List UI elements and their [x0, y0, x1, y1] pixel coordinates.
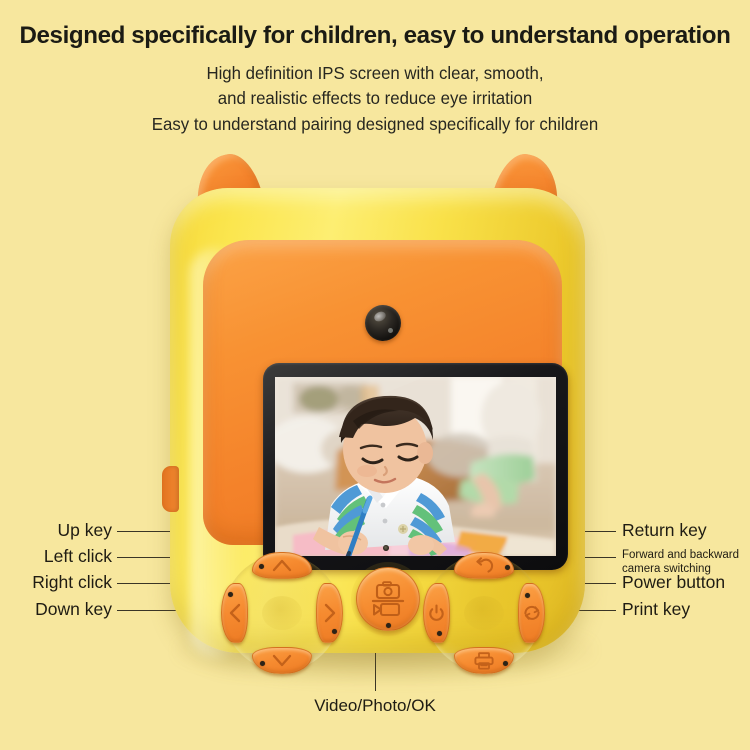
callout-label-right-click: Right click [0, 573, 112, 592]
camera-lens-icon [365, 305, 401, 341]
right-click-button[interactable] [316, 583, 343, 643]
callout-label-return-key: Return key [622, 521, 707, 540]
screen-bezel [263, 363, 568, 570]
callout-label-camera-switch-line1: Forward and backward [622, 548, 739, 562]
power-button-pin [437, 631, 442, 636]
down-key-pin [260, 661, 265, 666]
print-key-pin [503, 661, 508, 666]
up-key-button[interactable] [252, 552, 312, 579]
subtitle-line-1: High definition IPS screen with clear, s… [15, 63, 735, 84]
lens-inner-dot [388, 328, 393, 333]
camera-body-shell [170, 188, 585, 653]
callout-label-up-key: Up key [0, 521, 112, 540]
left-click-pin [228, 592, 233, 597]
return-key-button[interactable] [454, 552, 514, 579]
chevron-left-icon [222, 584, 247, 642]
callout-label-power-button: Power button [622, 573, 725, 592]
side-button-tab[interactable] [162, 466, 179, 512]
callout-label-left-click: Left click [0, 547, 112, 566]
right-click-pin [332, 629, 337, 634]
shutter-video-photo-ok-button[interactable] [356, 567, 420, 631]
product-feature-page: Designed specifically for children, easy… [0, 0, 750, 750]
camera-switch-icon [519, 584, 544, 642]
camera-faceplate [203, 240, 562, 545]
callout-label-print-key: Print key [622, 600, 690, 619]
up-key-pin [259, 564, 264, 569]
page-title: Designed specifically for children, easy… [6, 22, 745, 50]
led-indicator-icon [383, 545, 389, 551]
shutter-pin [386, 623, 391, 628]
callout-label-down-key: Down key [0, 600, 112, 619]
subtitle-line-3: Easy to understand pairing designed spec… [15, 114, 735, 135]
subtitle-line-2: and realistic effects to reduce eye irri… [15, 88, 735, 109]
left-click-button[interactable] [221, 583, 248, 643]
camera-switch-button[interactable] [518, 583, 545, 643]
power-button[interactable] [423, 583, 450, 643]
ips-screen [275, 377, 556, 556]
chevron-right-icon [317, 584, 342, 642]
lens-glint [372, 310, 387, 324]
kids-camera-device [165, 150, 590, 660]
function-cluster-right [426, 555, 542, 671]
camera-video-icon [357, 568, 419, 630]
camera-switch-pin [525, 593, 530, 598]
dpad-left [224, 555, 340, 671]
return-key-pin [505, 565, 510, 570]
control-panel [170, 543, 595, 693]
screen-photo [275, 377, 556, 556]
down-key-button[interactable] [252, 647, 312, 674]
callout-label-shutter: Video/Photo/OK [275, 697, 475, 715]
print-key-button[interactable] [454, 647, 514, 674]
